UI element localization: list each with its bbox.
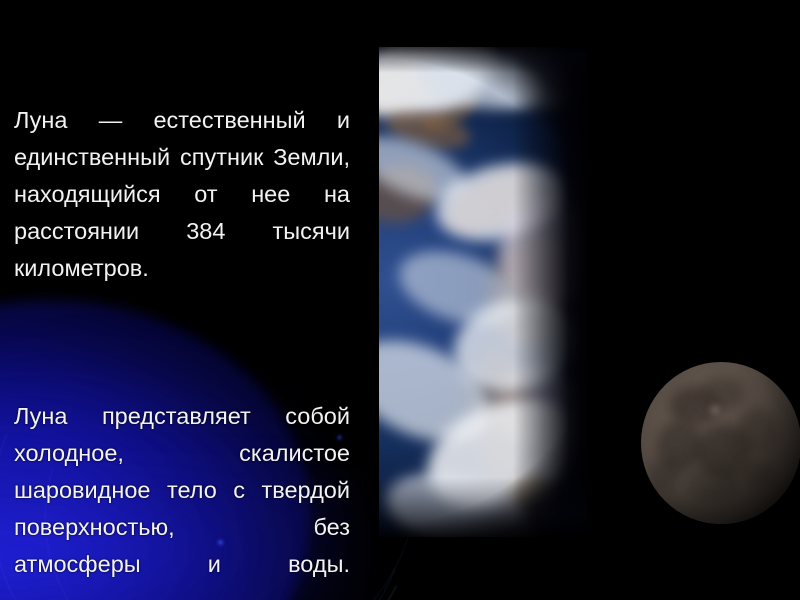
moon-shadow bbox=[641, 362, 800, 524]
slide-body-text: Луна — естественный и единственный спутн… bbox=[14, 28, 350, 600]
earth-edge-shadow bbox=[379, 477, 587, 537]
paragraph-2: Луна представляет собой холодное, скалис… bbox=[14, 398, 350, 600]
paragraph-1: Луна — естественный и единственный спутн… bbox=[14, 102, 350, 324]
earth-terminator bbox=[513, 47, 587, 537]
earth-edge-shadow bbox=[379, 47, 587, 73]
earth-globe bbox=[379, 47, 587, 537]
moon-photograph bbox=[641, 362, 800, 524]
presentation-slide: Луна — естественный и единственный спутн… bbox=[0, 0, 800, 600]
earth-photograph bbox=[379, 47, 587, 537]
